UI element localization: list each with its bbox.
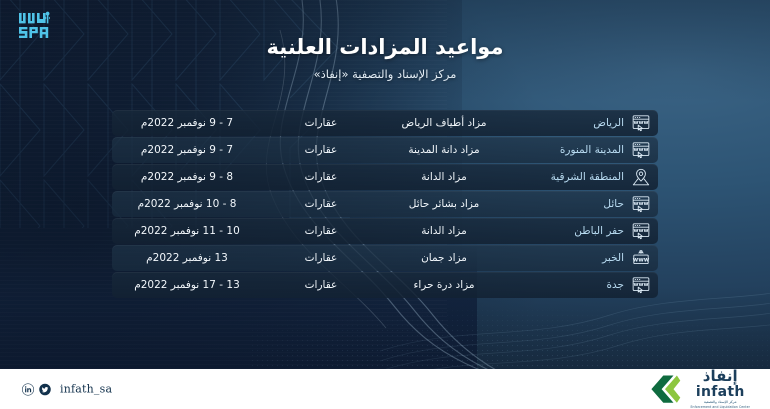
table-row[interactable]: wwwالرياضمزاد أطياف الرياضعقارات7 - 9 نو… [112, 110, 658, 136]
twitter-icon[interactable] [39, 383, 51, 395]
row-date: 7 - 9 نوفمبر 2022م [112, 117, 262, 129]
row-auction-name: مزاد بشائر حائل [380, 198, 508, 210]
linkedin-icon[interactable] [22, 383, 34, 395]
row-city-cell: wwwجدة [508, 276, 658, 294]
row-city-cell: wwwالرياض [508, 114, 658, 132]
row-auction-name: مزاد أطياف الرياض [380, 117, 508, 129]
row-auction-name: مزاد الدانة [380, 171, 508, 183]
svg-text:www: www [634, 147, 649, 153]
row-date: 8 - 10 نوفمبر 2022م [112, 198, 262, 210]
svg-text:www: www [633, 256, 650, 263]
svg-text:www: www [634, 282, 649, 288]
table-row[interactable]: wwwجدةمزاد درة حراءعقارات13 - 17 نوفمبر … [112, 272, 658, 298]
row-category: عقارات [262, 198, 380, 210]
brand-name-latin: infath [696, 385, 745, 399]
map-pin-icon [631, 168, 651, 186]
row-category: عقارات [262, 117, 380, 129]
browser-www-icon: www [631, 114, 651, 132]
row-city-label: المدينة المنورة [560, 144, 624, 156]
row-category: عقارات [262, 279, 380, 291]
table-row[interactable]: wwwالمدينة المنورةمزاد دانة المدينةعقارا… [112, 137, 658, 163]
row-city-label: الرياض [593, 117, 624, 129]
svg-text:www: www [634, 201, 649, 207]
table-row[interactable]: wwwالخبرمزاد جمانعقارات13 نوفمبر 2022م [112, 245, 658, 271]
infath-diamond-mark-icon [648, 372, 682, 406]
row-city-cell: wwwالخبر [508, 249, 658, 267]
www-broadcast-icon: www [631, 249, 651, 267]
row-auction-name: مزاد الدانة [380, 225, 508, 237]
row-city-cell: wwwحائل [508, 195, 658, 213]
row-date: 13 - 17 نوفمبر 2022م [112, 279, 262, 291]
infath-brand-logo: إنفاذ infath مركز الإسناد والتصفية Enfor… [648, 369, 750, 409]
row-auction-name: مزاد دانة المدينة [380, 144, 508, 156]
brand-wordmark: إنفاذ infath مركز الإسناد والتصفية Enfor… [690, 369, 750, 409]
browser-www-icon: www [631, 222, 651, 240]
row-city-label: المنطقة الشرقية [551, 171, 624, 183]
footer: infath_sa إنفاذ infath مركز الإسناد والت… [0, 369, 770, 409]
row-date: 8 - 9 نوفمبر 2022م [112, 171, 262, 183]
table-row[interactable]: المنطقة الشرقيةمزاد الدانةعقارات8 - 9 نو… [112, 164, 658, 190]
social-links[interactable]: infath_sa [22, 383, 112, 396]
row-date: 10 - 11 نوفمبر 2022م [112, 225, 262, 237]
page-subtitle: مركز الإسناد والتصفية «إنفاذ» [0, 67, 770, 82]
svg-text:www: www [634, 120, 649, 126]
social-handle[interactable]: infath_sa [60, 383, 112, 396]
row-category: عقارات [262, 171, 380, 183]
brand-tagline-latin: Enforcement and Liquidation Center [690, 406, 750, 409]
poster-canvas: مواعيد المزادات العلنية مركز الإسناد وال… [0, 0, 770, 409]
table-row[interactable]: wwwحائلمزاد بشائر حائلعقارات8 - 10 نوفمب… [112, 191, 658, 217]
row-category: عقارات [262, 144, 380, 156]
svg-text:www: www [634, 228, 649, 234]
browser-www-icon: www [631, 141, 651, 159]
row-city-cell: wwwالمدينة المنورة [508, 141, 658, 159]
auctions-table: wwwالرياضمزاد أطياف الرياضعقارات7 - 9 نو… [112, 110, 658, 298]
row-city-label: الخبر [602, 252, 624, 264]
header: مواعيد المزادات العلنية مركز الإسناد وال… [0, 34, 770, 82]
row-date: 7 - 9 نوفمبر 2022م [112, 144, 262, 156]
row-category: عقارات [262, 225, 380, 237]
page-title: مواعيد المزادات العلنية [0, 34, 770, 61]
row-auction-name: مزاد جمان [380, 252, 508, 264]
row-city-cell: wwwحفر الباطن [508, 222, 658, 240]
row-auction-name: مزاد درة حراء [380, 279, 508, 291]
spa-logo [17, 10, 63, 44]
table-row[interactable]: wwwحفر الباطنمزاد الدانةعقارات10 - 11 نو… [112, 218, 658, 244]
browser-www-icon: www [631, 276, 651, 294]
brand-name-arabic: إنفاذ [703, 369, 738, 384]
row-city-label: جدة [606, 279, 624, 291]
row-city-label: حفر الباطن [574, 225, 624, 237]
browser-www-icon: www [631, 195, 651, 213]
row-category: عقارات [262, 252, 380, 264]
row-date: 13 نوفمبر 2022م [112, 252, 262, 264]
row-city-label: حائل [603, 198, 624, 210]
row-city-cell: المنطقة الشرقية [508, 168, 658, 186]
